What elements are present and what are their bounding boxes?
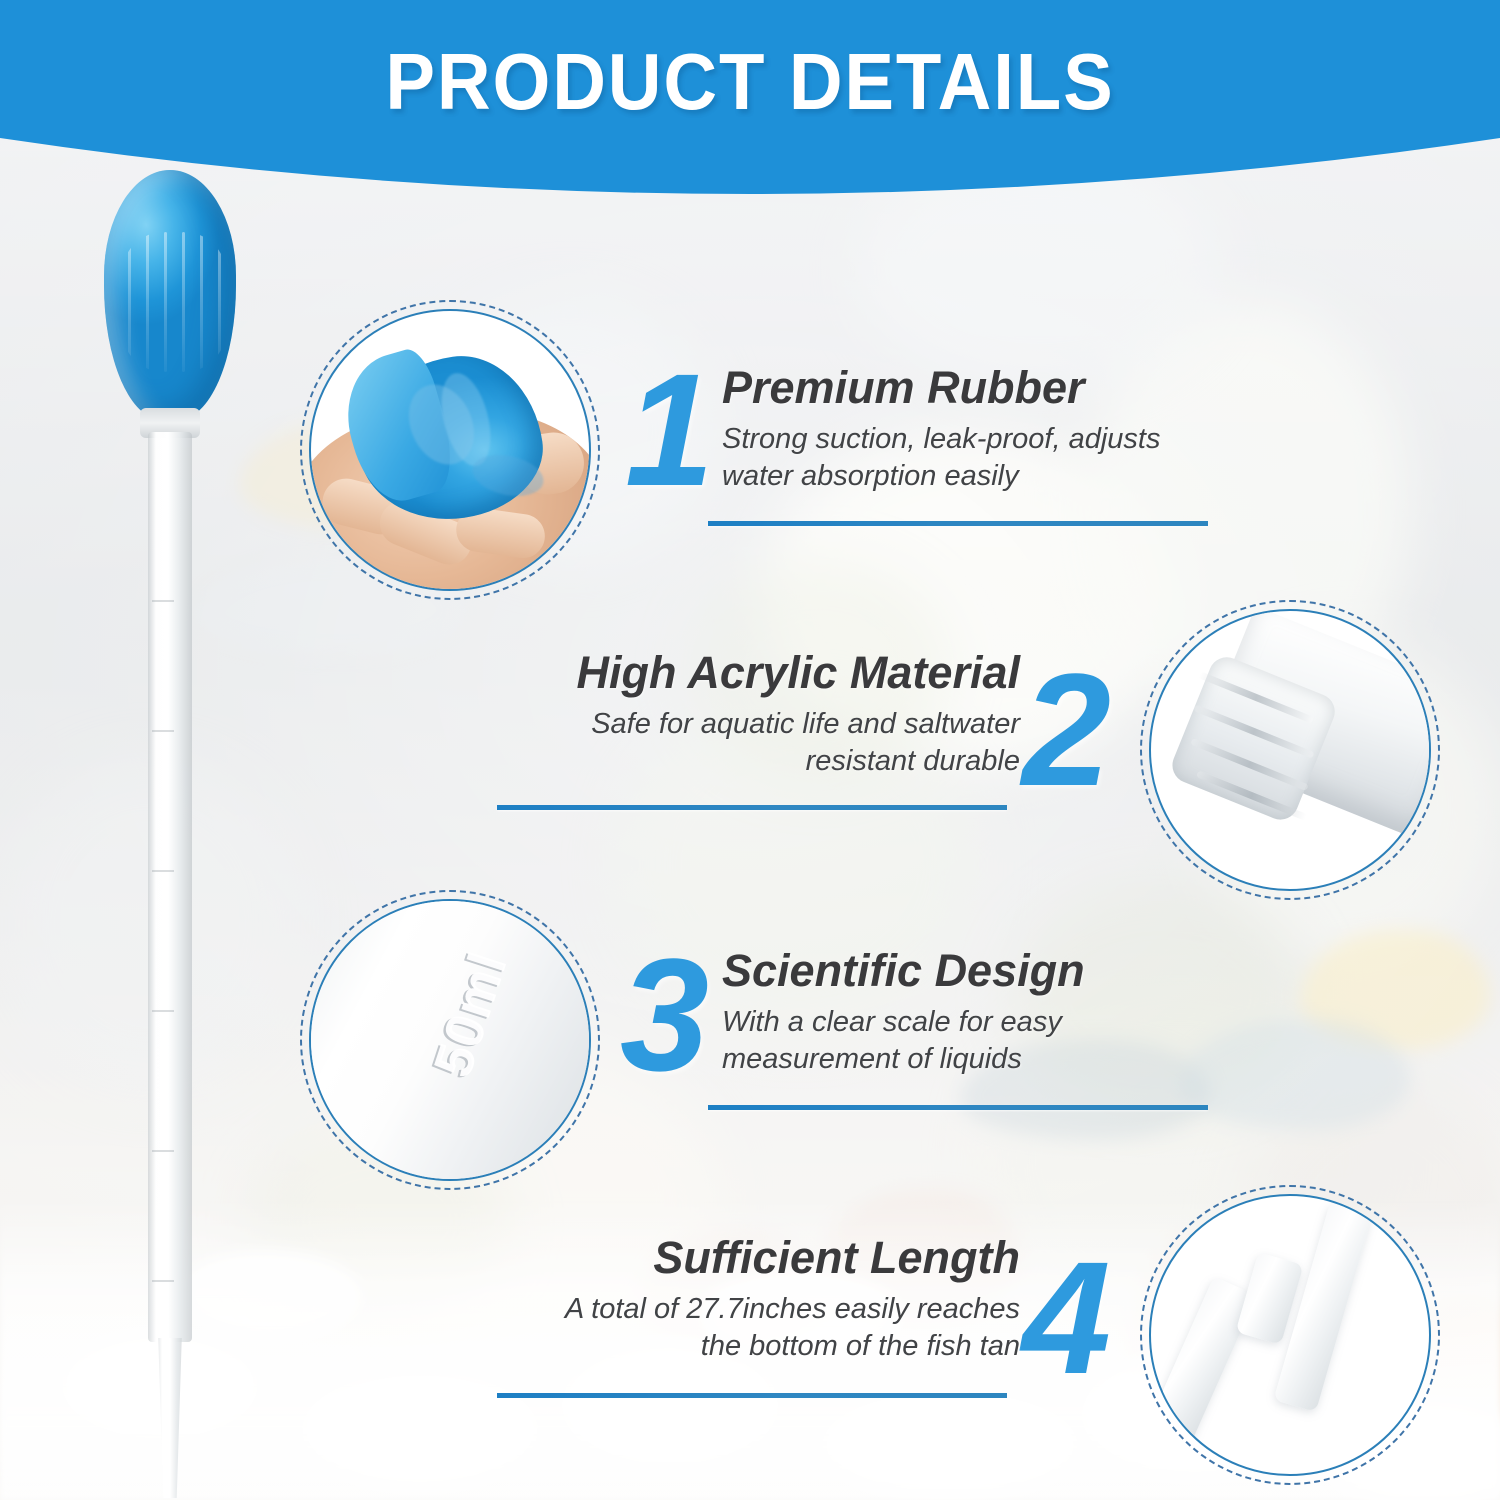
acrylic-tube xyxy=(148,432,192,1342)
feature-1-text: Premium Rubber Strong suction, leak-proo… xyxy=(722,365,1160,495)
feature-4-desc-line-1: A total of 27.7inches easily reaches xyxy=(440,1291,1020,1328)
feature-3-desc-line-1: With a clear scale for easy xyxy=(722,1004,1085,1041)
photo-threaded-acrylic-tube-end xyxy=(1151,611,1429,889)
feature-4-number: 4 xyxy=(1022,1238,1111,1398)
feature-2-divider xyxy=(497,805,1007,810)
feature-2-desc-line-1: Safe for aquatic life and saltwater xyxy=(440,706,1020,743)
feature-1-number: 1 xyxy=(625,350,714,510)
feature-4-photo-circle xyxy=(1140,1185,1440,1485)
feature-4-title: Sufficient Length xyxy=(440,1235,1020,1282)
feature-2-number: 2 xyxy=(1022,650,1111,810)
feature-2-title: High Acrylic Material xyxy=(440,650,1020,697)
photo-blue-rubber-bulb-in-hand xyxy=(311,311,589,589)
feature-1-desc-line-1: Strong suction, leak-proof, adjusts xyxy=(722,421,1160,458)
feature-4-desc-line-2: the bottom of the fish tan xyxy=(440,1328,1020,1365)
feature-1-title: Premium Rubber xyxy=(722,365,1160,412)
feature-3-photo-circle: 50ml xyxy=(300,890,600,1190)
feature-1-photo-circle xyxy=(300,300,600,600)
feature-1-desc-line-2: water absorption easily xyxy=(722,458,1160,495)
feature-3-title: Scientific Design xyxy=(722,948,1085,995)
feature-2-text: High Acrylic Material Safe for aquatic l… xyxy=(440,650,1020,780)
tube-tip xyxy=(156,1338,184,1498)
feature-3-number: 3 xyxy=(620,935,709,1095)
feature-4-desc: A total of 27.7inches easily reaches the… xyxy=(440,1291,1020,1365)
feature-2-desc: Safe for aquatic life and saltwater resi… xyxy=(440,706,1020,780)
header-banner: PRODUCT DETAILS xyxy=(0,0,1500,230)
feature-3-desc: With a clear scale for easy measurement … xyxy=(722,1004,1085,1078)
feature-4-text: Sufficient Length A total of 27.7inches … xyxy=(440,1235,1020,1365)
feature-2-desc-line-2: resistant durable xyxy=(440,743,1020,780)
feature-3-desc-line-2: measurement of liquids xyxy=(722,1041,1085,1078)
feature-1-divider xyxy=(708,521,1208,526)
feature-3-divider xyxy=(708,1105,1208,1110)
product-pipette-image xyxy=(100,170,260,1500)
feature-3-text: Scientific Design With a clear scale for… xyxy=(722,948,1085,1078)
bulb-ribs xyxy=(122,232,226,372)
feature-1-desc: Strong suction, leak-proof, adjusts wate… xyxy=(722,421,1160,495)
feature-4-divider xyxy=(497,1393,1007,1398)
photo-tube-50ml-embossed-scale: 50ml xyxy=(311,901,589,1179)
photo-three-tube-segments xyxy=(1151,1196,1429,1474)
page-title: PRODUCT DETAILS xyxy=(53,36,1448,128)
feature-2-photo-circle xyxy=(1140,600,1440,900)
